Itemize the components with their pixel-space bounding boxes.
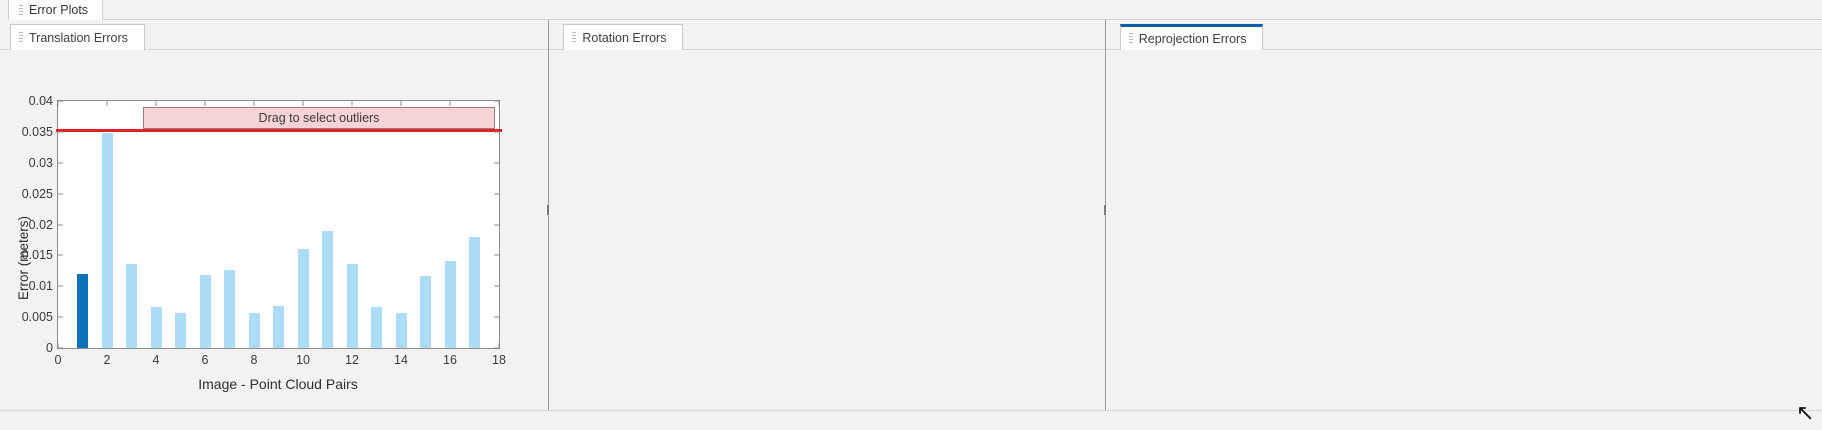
tab-rotation-errors[interactable]: Rotation Errors — [563, 24, 683, 50]
document-tab-bar: Error Plots — [0, 0, 1822, 20]
bar[interactable] — [249, 313, 260, 348]
bar[interactable] — [445, 261, 456, 348]
y-tick-label: 0.04 — [29, 94, 53, 108]
x-tick-mark — [352, 101, 353, 106]
y-tick-mark — [58, 131, 63, 132]
y-tick-mark — [494, 162, 499, 163]
bar[interactable] — [126, 264, 137, 348]
y-tick-label: 0.02 — [29, 218, 53, 232]
drag-grip-icon[interactable] — [572, 32, 576, 43]
x-tick-label: 16 — [443, 353, 457, 367]
y-tick-mark — [58, 224, 63, 225]
figure-rotation-errors: Error (degrees) Image - Point Cloud Pair… — [549, 50, 1104, 410]
x-tick-label: 12 — [345, 353, 359, 367]
y-tick-mark — [58, 193, 63, 194]
y-tick-label: 0.025 — [22, 187, 53, 201]
x-tick-mark — [205, 101, 206, 106]
x-tick-mark — [58, 101, 59, 106]
x-tick-mark — [303, 101, 304, 106]
y-tick-mark — [58, 317, 63, 318]
y-tick-label: 0.015 — [22, 248, 53, 262]
tab-translation-errors[interactable]: Translation Errors — [10, 24, 145, 50]
outlier-selector-label: Drag to select outliers — [259, 111, 380, 125]
panel-translation-errors: Translation Errors Error (meters) Image … — [0, 20, 548, 410]
bar[interactable] — [420, 276, 431, 348]
y-tick-mark — [494, 131, 499, 132]
x-tick-label: 4 — [153, 353, 160, 367]
y-tick-mark — [58, 162, 63, 163]
y-tick-mark — [494, 286, 499, 287]
panel-reprojection-errors: Reprojection Errors Error (pixels) Image… — [1106, 20, 1822, 410]
x-axis-label: Image - Point Cloud Pairs — [198, 376, 358, 392]
drag-grip-icon[interactable] — [1129, 33, 1133, 44]
y-tick-mark — [494, 224, 499, 225]
bar[interactable] — [273, 306, 284, 348]
x-tick-label: 0 — [55, 353, 62, 367]
panel-rotation-errors: Rotation Errors Error (degrees) Image - … — [549, 20, 1104, 410]
y-tick-mark — [494, 255, 499, 256]
bar[interactable] — [77, 274, 88, 348]
x-tick-mark — [107, 101, 108, 106]
bar[interactable] — [396, 313, 407, 348]
figure-reprojection-errors: Error (pixels) Image - Point Cloud Pairs… — [1106, 50, 1822, 410]
x-tick-mark — [254, 101, 255, 106]
x-tick-label: 18 — [492, 353, 506, 367]
document-tab-error-plots[interactable]: Error Plots — [8, 0, 103, 20]
bottom-bar — [0, 410, 1822, 430]
x-tick-mark — [499, 343, 500, 348]
plot-axes[interactable]: Drag to select outliers 00.0050.010.0150… — [57, 100, 500, 349]
bar[interactable] — [200, 275, 211, 348]
x-tick-mark — [58, 343, 59, 348]
document-tab-bar-filler — [96, 0, 1822, 20]
document-tab-label: Error Plots — [29, 3, 88, 17]
outlier-selector[interactable]: Drag to select outliers — [143, 107, 495, 129]
tab-label: Reprojection Errors — [1139, 32, 1247, 46]
figure-translation-errors: Error (meters) Image - Point Cloud Pairs… — [0, 50, 548, 410]
y-tick-mark — [494, 193, 499, 194]
plot-panels-container: Translation Errors Error (meters) Image … — [0, 20, 1822, 410]
drag-grip-icon[interactable] — [19, 32, 23, 43]
bar[interactable] — [371, 307, 382, 348]
mouse-cursor-icon: ↖ — [1796, 402, 1818, 428]
tabstrip-rotation: Rotation Errors — [549, 20, 1104, 50]
tab-label: Rotation Errors — [582, 31, 666, 45]
x-tick-mark — [499, 101, 500, 106]
bar[interactable] — [102, 133, 113, 348]
bar[interactable] — [151, 307, 162, 348]
y-tick-label: 0 — [46, 341, 53, 355]
bar[interactable] — [347, 264, 358, 348]
y-tick-mark — [58, 255, 63, 256]
threshold-line[interactable] — [56, 129, 502, 132]
y-tick-label: 0.005 — [22, 310, 53, 324]
bar[interactable] — [175, 313, 186, 348]
y-tick-label: 0.035 — [22, 125, 53, 139]
y-tick-mark — [494, 317, 499, 318]
bar[interactable] — [469, 237, 480, 348]
drag-grip-icon[interactable] — [19, 5, 23, 16]
x-tick-label: 6 — [202, 353, 209, 367]
tabstrip-translation: Translation Errors — [0, 20, 548, 50]
x-tick-label: 14 — [394, 353, 408, 367]
x-tick-mark — [401, 101, 402, 106]
x-tick-mark — [450, 101, 451, 106]
y-tick-label: 0.03 — [29, 156, 53, 170]
x-tick-label: 8 — [251, 353, 258, 367]
y-tick-mark — [58, 101, 63, 102]
bar[interactable] — [298, 249, 309, 348]
bar[interactable] — [224, 270, 235, 348]
x-tick-label: 10 — [296, 353, 310, 367]
x-tick-label: 2 — [104, 353, 111, 367]
bar[interactable] — [322, 231, 333, 348]
y-tick-mark — [58, 286, 63, 287]
tabstrip-reprojection: Reprojection Errors — [1106, 20, 1822, 50]
x-tick-mark — [156, 101, 157, 106]
y-tick-label: 0.01 — [29, 279, 53, 293]
tab-label: Translation Errors — [29, 31, 128, 45]
tab-reprojection-errors[interactable]: Reprojection Errors — [1120, 24, 1264, 50]
y-tick-mark — [58, 348, 63, 349]
